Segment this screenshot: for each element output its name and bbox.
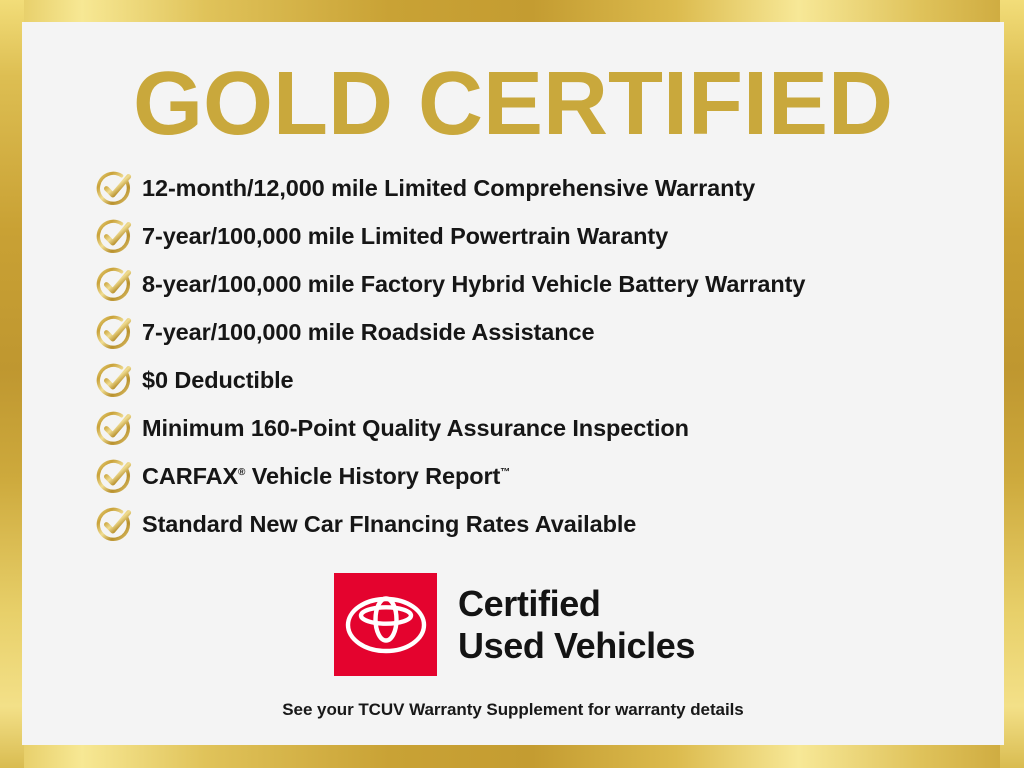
list-item: CARFAX® Vehicle History Report™ [96, 452, 996, 500]
benefit-label: 12-month/12,000 mile Limited Comprehensi… [142, 175, 755, 201]
benefit-label-carfax: CARFAX® Vehicle History Report™ [142, 463, 510, 489]
gold-check-circle-icon [96, 265, 142, 303]
toyota-logo-icon [334, 573, 437, 676]
poster-card: GOLD CERTIFIED [22, 22, 1004, 745]
benefit-label: $0 Deductible [142, 367, 294, 393]
gold-check-circle-icon [96, 409, 142, 447]
gold-check-circle-icon [96, 313, 142, 351]
gold-border-top [0, 0, 1024, 24]
list-item: 12-month/12,000 mile Limited Comprehensi… [96, 164, 996, 212]
list-item: Minimum 160-Point Quality Assurance Insp… [96, 404, 996, 452]
lockup-text: Certified Used Vehicles [458, 583, 695, 667]
list-item: 7-year/100,000 mile Limited Powertrain W… [96, 212, 996, 260]
list-item: 8-year/100,000 mile Factory Hybrid Vehic… [96, 260, 996, 308]
list-item: $0 Deductible [96, 356, 996, 404]
gold-check-circle-icon [96, 505, 142, 543]
benefit-label: Standard New Car FInancing Rates Availab… [142, 511, 636, 537]
gold-check-circle-icon [96, 457, 142, 495]
list-item: 7-year/100,000 mile Roadside Assistance [96, 308, 996, 356]
carfax-rest: Vehicle History Report [245, 463, 500, 489]
benefits-list: 12-month/12,000 mile Limited Comprehensi… [96, 164, 996, 548]
gold-check-circle-icon [96, 217, 142, 255]
benefit-label: 7-year/100,000 mile Limited Powertrain W… [142, 223, 668, 249]
gold-border-left [0, 0, 24, 768]
warranty-footnote: See your TCUV Warranty Supplement for wa… [22, 700, 1004, 720]
list-item: Standard New Car FInancing Rates Availab… [96, 500, 996, 548]
lockup-line-2: Used Vehicles [458, 625, 695, 667]
trademark-mark: ™ [500, 467, 510, 478]
gold-border-bottom [0, 745, 1024, 768]
page-title: GOLD CERTIFIED [22, 56, 1004, 152]
gold-check-circle-icon [96, 169, 142, 207]
gold-certified-poster: GOLD CERTIFIED [0, 0, 1024, 768]
benefit-label: Minimum 160-Point Quality Assurance Insp… [142, 415, 689, 441]
benefit-label: 7-year/100,000 mile Roadside Assistance [142, 319, 594, 345]
carfax-word: CARFAX [142, 463, 238, 489]
benefit-label: 8-year/100,000 mile Factory Hybrid Vehic… [142, 271, 805, 297]
gold-check-circle-icon [96, 361, 142, 399]
lockup-line-1: Certified [458, 583, 695, 625]
toyota-certified-used-vehicles-lockup: Certified Used Vehicles [334, 573, 695, 676]
